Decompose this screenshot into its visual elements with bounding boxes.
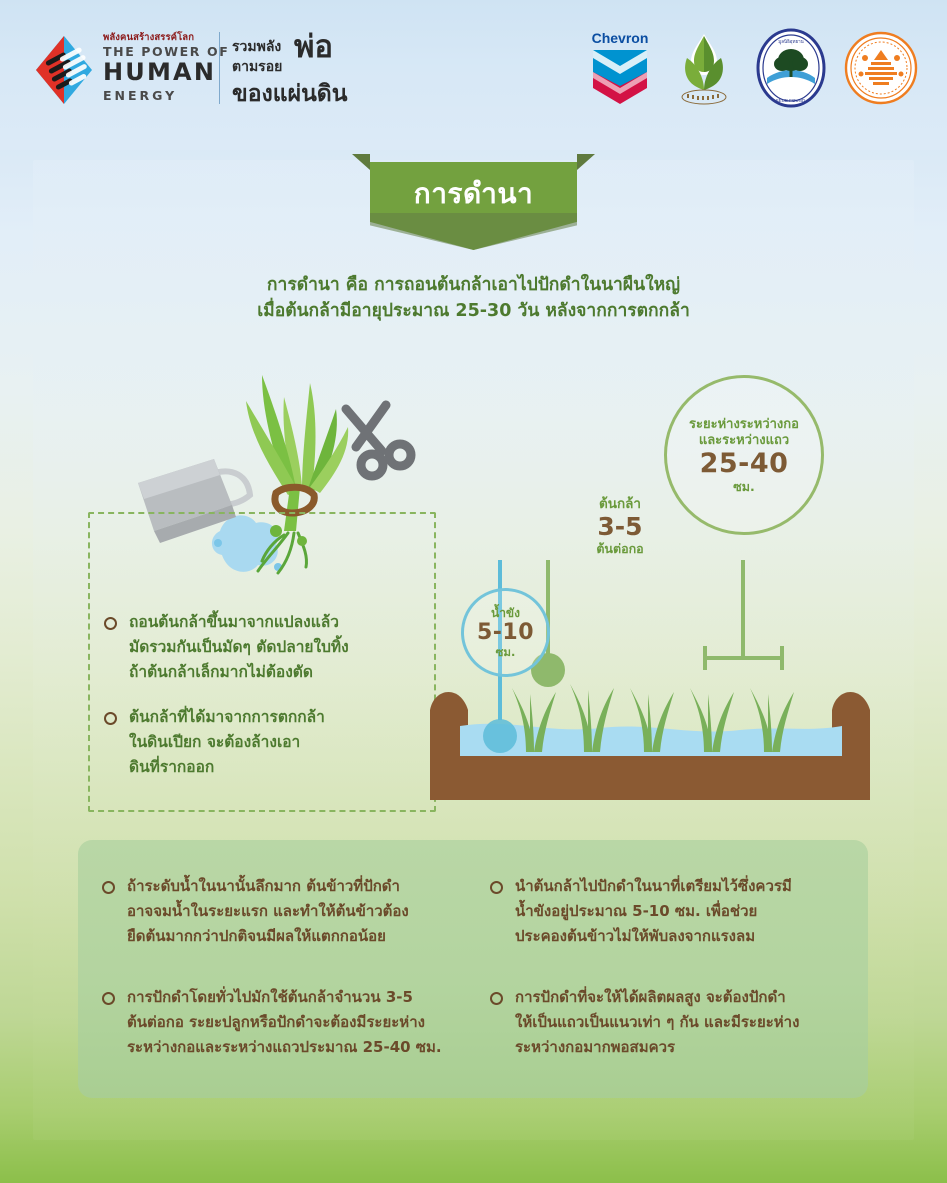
- phe-line3: ENERGY: [103, 88, 177, 103]
- seedlings-callout-unit: ต้นต่อกอ: [553, 541, 687, 557]
- line: ถอนต้นกล้าขึ้นมาจากแปลงแล้ว: [129, 610, 349, 635]
- water-callout-unit: ซม.: [496, 645, 516, 660]
- line: ให้เป็นแถวเป็นแนวเท่า ๆ กัน และมีระยะห่า…: [515, 1010, 799, 1035]
- summary-left-bullet-1-text: ถ้าระดับน้ำในนานั้นลึกมาก ต้นข้าวที่ปักด…: [127, 874, 409, 949]
- line: ระหว่างกอมากพอสมควร: [515, 1035, 799, 1060]
- campaign-small-1: รวมพลัง: [232, 36, 281, 58]
- summary-right-bullet-1: นำต้นกล้าไปปักดำในนาที่เตรียมไว้ซึ่งควรม…: [490, 874, 860, 949]
- line: การปักดำที่จะให้ได้ผลิตผลสูง จะต้องปักดำ: [515, 985, 799, 1010]
- chevron-logo: Chevron: [585, 26, 655, 110]
- chevron-wordmark: Chevron: [592, 30, 649, 46]
- water-callout-value: 5-10: [477, 621, 534, 645]
- label-line-2: และระหว่างแถว: [699, 433, 789, 448]
- bullet-dot-icon: [102, 881, 115, 894]
- dashed-bullet-2: ต้นกล้าที่ได้มาจากการตกกล้า ในดินเปียก จ…: [104, 705, 434, 780]
- line: นำต้นกล้าไปปักดำในนาที่เตรียมไว้ซึ่งควรม…: [515, 874, 792, 899]
- banner-flag-right: [577, 154, 595, 170]
- dashed-bullet-2-text: ต้นกล้าที่ได้มาจากการตกกล้า ในดินเปียก จ…: [129, 705, 325, 780]
- logo-power-of-human-energy: พลังคนสร้างสรรค์โลก THE POWER OF HUMAN E…: [33, 30, 233, 110]
- line: ดินที่รากออก: [129, 755, 325, 780]
- partner-logos: Chevron: [585, 26, 925, 110]
- campaign-big-word: พ่อ: [294, 32, 333, 63]
- header: พลังคนสร้างสรรค์โลก THE POWER OF HUMAN E…: [0, 0, 947, 140]
- campaign-small-2: ตามรอย: [232, 56, 282, 78]
- infographic-page: พลังคนสร้างสรรค์โลก THE POWER OF HUMAN E…: [0, 0, 947, 1183]
- summary-left-bullet-1: ถ้าระดับน้ำในนานั้นลึกมาก ต้นข้าวที่ปักด…: [102, 874, 472, 949]
- summary-right-bullet-2: การปักดำที่จะให้ได้ผลิตผลสูง จะต้องปักดำ…: [490, 985, 860, 1060]
- summary-left-bullet-2-text: การปักดำโดยทั่วไปมักใช้ต้นกล้าจำนวน 3-5 …: [127, 985, 442, 1060]
- line: ในดินเปียก จะต้องล้างเอา: [129, 730, 325, 755]
- line: มัดรวมกันเป็นมัดๆ ตัดปลายใบทิ้ง: [129, 635, 349, 660]
- spacing-callout: ระยะห่างระหว่างกอ และระหว่างแถว 25-40 ซม…: [664, 375, 824, 535]
- seedlings-callout-value: 3-5: [553, 513, 687, 541]
- dashed-bullet-1: ถอนต้นกล้าขึ้นมาจากแปลงแล้ว มัดรวมกันเป็…: [104, 610, 434, 685]
- line: ประคองต้นข้าวไม่ให้พับลงจากแรงลม: [515, 924, 792, 949]
- royal-orange-seal-logo: [843, 26, 919, 110]
- phe-line2: HUMAN: [103, 58, 216, 86]
- subtitle-line-2: เมื่อต้นกล้ามีอายุประมาณ 25-30 วัน หลังจ…: [120, 298, 827, 324]
- title-banner: การดำนา: [352, 154, 595, 250]
- line: ถ้าต้นกล้าเล็กมากไม่ต้องตัด: [129, 660, 349, 685]
- summary-left-bullet-2: การปักดำโดยทั่วไปมักใช้ต้นกล้าจำนวน 3-5 …: [102, 985, 472, 1060]
- subtitle-line-1: การดำนา คือ การถอนต้นกล้าเอาไปปักดำในนาผ…: [120, 272, 827, 298]
- logo-thai-campaign: รวมพลัง ตามรอย พ่อ ของแผ่นดิน: [232, 34, 362, 106]
- line: ระหว่างกอและระหว่างแถวประมาณ 25-40 ซม.: [127, 1035, 442, 1060]
- bullet-dot-icon: [102, 992, 115, 1005]
- bullet-dot-icon: [104, 712, 117, 725]
- line: การปักดำโดยทั่วไปมักใช้ต้นกล้าจำนวน 3-5: [127, 985, 442, 1010]
- spacing-callout-value: 25-40: [700, 449, 789, 479]
- svg-text:SEUB FOUND.: SEUB FOUND.: [776, 98, 807, 103]
- bullet-dot-icon: [104, 617, 117, 630]
- spacing-callout-label: ระยะห่างระหว่างกอ และระหว่างแถว: [689, 417, 799, 449]
- line: ต้นกล้าที่ได้มาจากการตกกล้า: [129, 705, 325, 730]
- seedlings-per-hill-callout: ต้นกล้า 3-5 ต้นต่อกอ: [553, 496, 687, 557]
- dashed-bullet-1-text: ถอนต้นกล้าขึ้นมาจากแปลงแล้ว มัดรวมกันเป็…: [129, 610, 349, 685]
- line: ถ้าระดับน้ำในนานั้นลึกมาก ต้นข้าวที่ปักด…: [127, 874, 409, 899]
- line: น้ำขังอยู่ประมาณ 5-10 ซม. เพื่อช่วย: [515, 899, 792, 924]
- phe-tagline-th: พลังคนสร้างสรรค์โลก: [103, 30, 194, 45]
- banner-flag-left: [352, 154, 370, 170]
- bullet-dot-icon: [490, 992, 503, 1005]
- summary-right-bullet-2-text: การปักดำที่จะให้ได้ผลิตผลสูง จะต้องปักดำ…: [515, 985, 799, 1060]
- water-depth-callout: น้ำขัง 5-10 ซม.: [461, 588, 550, 677]
- phe-line1: THE POWER OF: [103, 44, 229, 59]
- tree-shield-seal-logo: มูลนิธิอุทยาน SEUB FOUND.: [755, 26, 827, 110]
- campaign-small-3: ของแผ่นดิน: [232, 76, 347, 112]
- spacing-measure-bracket: [705, 560, 782, 670]
- header-divider: [219, 32, 220, 104]
- page-title: การดำนา: [370, 172, 577, 216]
- line: ต้นต่อกอ ระยะปลูกหรือปักดำจะต้องมีระยะห่…: [127, 1010, 442, 1035]
- seedlings-callout-label: ต้นกล้า: [553, 496, 687, 513]
- bullet-dot-icon: [490, 881, 503, 894]
- water-callout-label: น้ำขัง: [491, 605, 520, 621]
- scissors-icon: [346, 405, 411, 476]
- spacing-callout-unit: ซม.: [733, 479, 754, 494]
- summary-right-bullet-1-text: นำต้นกล้าไปปักดำในนาที่เตรียมไว้ซึ่งควรม…: [515, 874, 792, 949]
- subtitle: การดำนา คือ การถอนต้นกล้าเอาไปปักดำในนาผ…: [120, 272, 827, 324]
- hands-diamond-mark: [33, 34, 95, 106]
- label-line-1: ระยะห่างระหว่างกอ: [689, 417, 799, 432]
- line: อาจจมน้ำในระยะแรก และทำให้ต้นข้าวต้อง: [127, 899, 409, 924]
- line: ยืดต้นมากกว่าปกติจนมีผลให้แตกกอน้อย: [127, 924, 409, 949]
- leaf-drop-foundation-logo: [673, 26, 735, 110]
